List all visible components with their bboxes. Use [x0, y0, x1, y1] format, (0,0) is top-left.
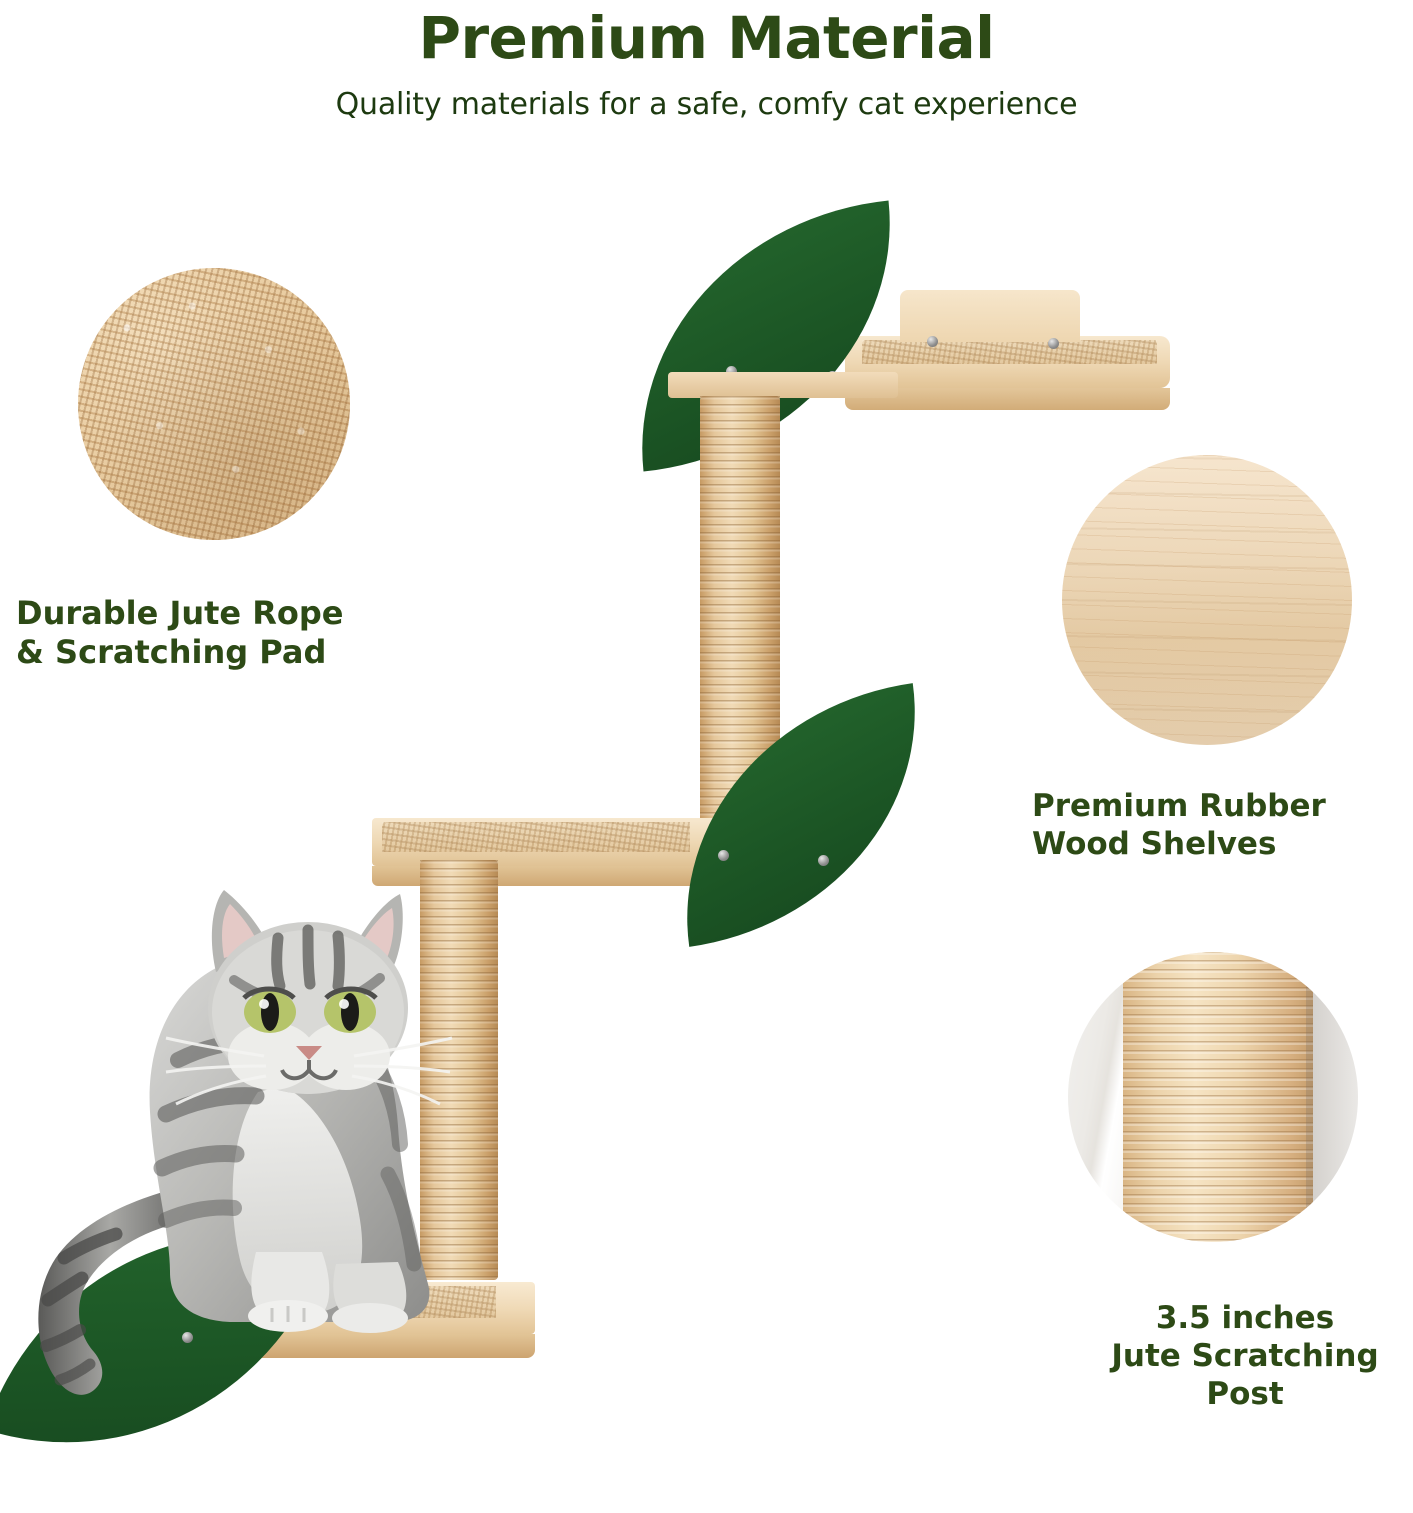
- top-pad-texture: [862, 340, 1157, 364]
- upper-shelf-board: [668, 372, 898, 398]
- jute-post-rope-rings: [1123, 952, 1313, 1242]
- rubber-wood-swatch: [1062, 455, 1352, 745]
- callout-label-jute: Durable Jute Rope & Scratching Pad: [16, 594, 344, 672]
- screw: [718, 850, 729, 861]
- jute-rope-swatch: [78, 268, 350, 540]
- jute-post-swatch: [1068, 952, 1358, 1242]
- callout-label-post: 3.5 inches Jute Scratching Post: [1095, 1300, 1395, 1413]
- callout-label-wood: Premium Rubber Wood Shelves: [1032, 788, 1326, 864]
- middle-shelf-jute-pad: [382, 822, 690, 852]
- top-shelf-jute-pad: [862, 340, 1157, 364]
- silver-tabby-cat: [20, 860, 490, 1460]
- middle-pad-texture: [382, 822, 690, 852]
- screw: [818, 855, 829, 866]
- product-photo: [0, 0, 1413, 1500]
- jute-swatch-highlights: [78, 268, 350, 540]
- top-shelf-back-plate: [900, 290, 1080, 342]
- screw: [1048, 338, 1059, 349]
- jute-post-shadow: [1306, 952, 1358, 1242]
- screw: [927, 336, 938, 347]
- jute-post-cylinder: [1123, 952, 1313, 1242]
- wood-swatch-grain: [1062, 455, 1352, 745]
